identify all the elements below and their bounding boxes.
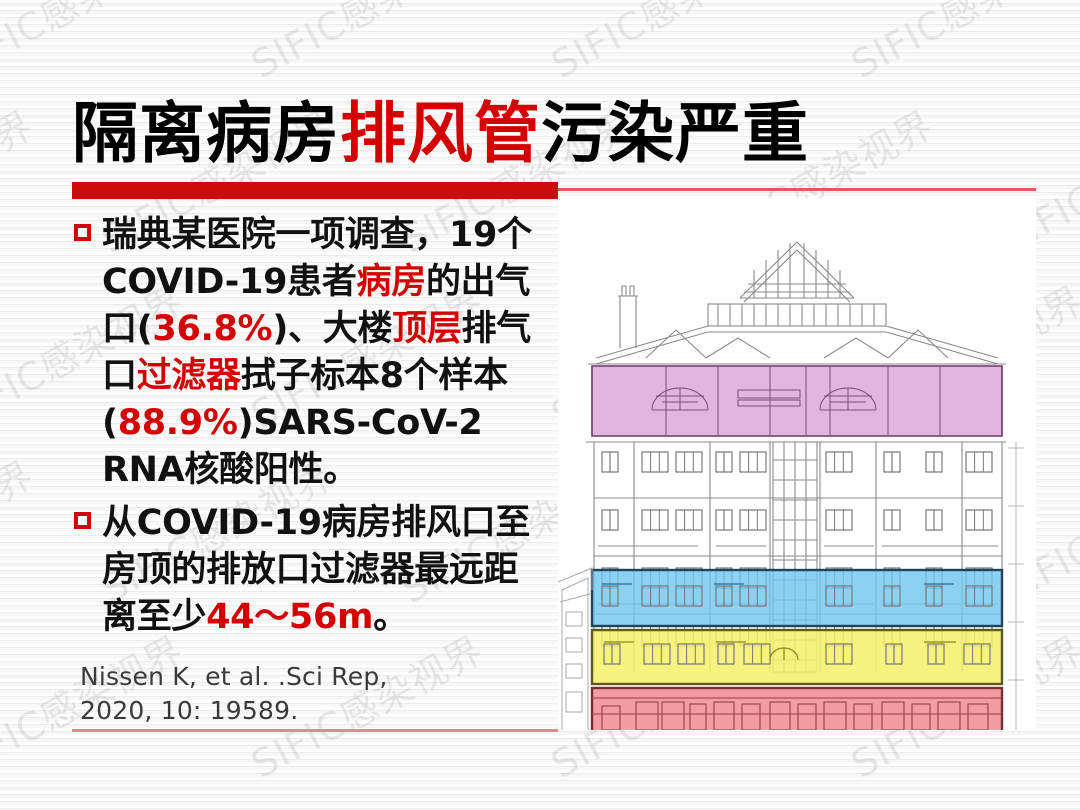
watermark-text: SIFIC感染视界 <box>0 795 42 810</box>
watermark-text: SIFIC感染视界 <box>90 795 342 810</box>
title-segment-2: 污染严重 <box>541 95 809 172</box>
bullet-0-segment-3: 36.8% <box>152 309 272 349</box>
bullet-0-segment-5: 顶层 <box>392 309 461 349</box>
title-segment-1: 排风管 <box>340 95 541 172</box>
citation-line-2: 2020, 10: 19589. <box>80 694 520 728</box>
title-segment-0: 隔离病房 <box>72 95 340 172</box>
band-yellow <box>592 630 1002 684</box>
citation-underline <box>72 729 558 732</box>
bullet-0-segment-4: )、大楼 <box>272 309 392 349</box>
bullet-0-segment-9: 88.9% <box>118 403 238 443</box>
bullet-item: 从COVID-19病房排风口至房顶的排放口过滤器最远距离至少44～56m。 <box>72 500 542 641</box>
watermark-text: SIFIC感染视界 <box>840 0 1080 89</box>
watermark-text: SIFIC感染视界 <box>540 0 792 89</box>
watermark-text: SIFIC感染视界 <box>990 795 1080 810</box>
bullet-1-segment-1: 44～56m <box>206 597 373 637</box>
title-underline-bar <box>72 182 558 199</box>
bullet-item: 瑞典某医院一项调查，19个COVID-19患者病房的出气口(36.8%)、大楼顶… <box>72 212 542 494</box>
citation-line-1: Nissen K, et al. .Sci Rep, <box>80 660 520 694</box>
watermark-text: SIFIC感染视界 <box>0 0 192 89</box>
bullet-0-segment-1: 病房 <box>357 262 426 302</box>
bullet-square-icon <box>74 512 91 529</box>
band-blue <box>592 570 1002 626</box>
watermark-text: SIFIC感染视界 <box>0 95 42 264</box>
watermark-text: SIFIC感染视界 <box>0 445 42 614</box>
slide-canvas: 隔离病房排风管污染严重 瑞典某医院一项调查，19个COVID-19患者病房的出气… <box>0 0 1080 810</box>
watermark-text: SIFIC感染视界 <box>690 795 942 810</box>
title-underline-thin <box>558 188 1036 191</box>
bullet-square-icon <box>74 224 91 241</box>
watermark-text: SIFIC感染视界 <box>240 0 492 89</box>
slide-title: 隔离病房排风管污染严重 <box>72 96 809 172</box>
band-attic <box>592 366 1002 436</box>
bullet-0-segment-7: 过滤器 <box>137 356 241 396</box>
bullet-1-segment-2: 。 <box>373 597 408 637</box>
citation-block: Nissen K, et al. .Sci Rep, 2020, 10: 195… <box>80 660 520 728</box>
building-elevation-figure <box>558 198 1036 730</box>
body-text-column: 瑞典某医院一项调查，19个COVID-19患者病房的出气口(36.8%)、大楼顶… <box>72 212 542 647</box>
building-elevation-svg <box>558 198 1036 730</box>
band-red <box>592 688 1002 730</box>
watermark-text: SIFIC感染视界 <box>390 795 642 810</box>
